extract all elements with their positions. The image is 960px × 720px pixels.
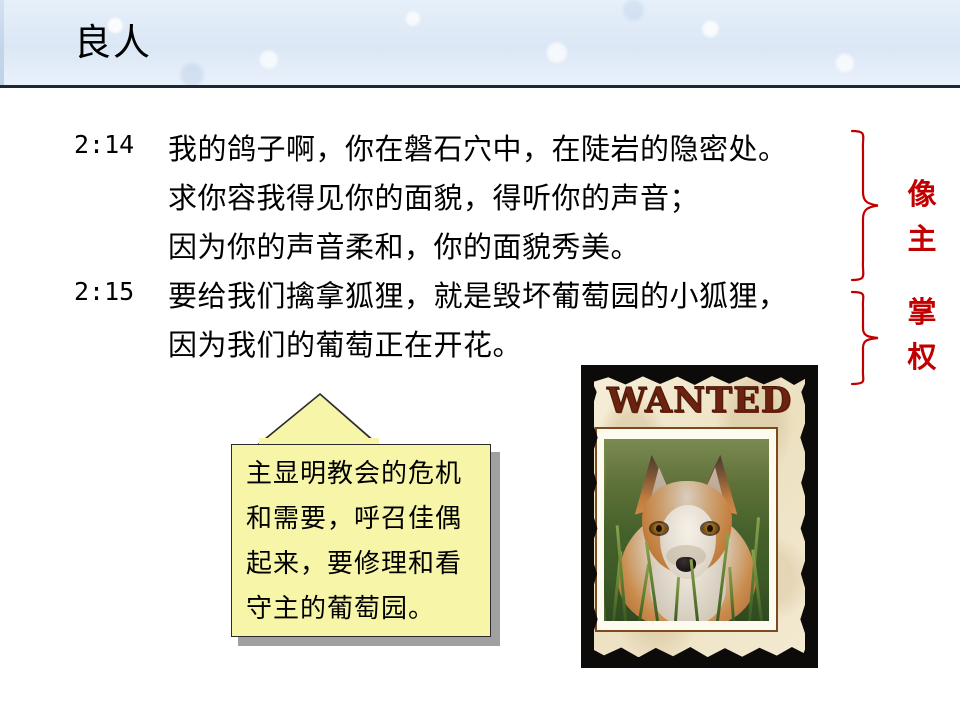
verse-line: 2:14 我的鸽子啊，你在磐石穴中，在陡岩的隐密处。 xyxy=(0,126,960,175)
verse-text: 我的鸽子啊，你在磐石穴中，在陡岩的隐密处。 xyxy=(168,126,788,172)
wanted-poster-image: WANTED ◄►◄●◄◆►●►◄► ◄►◄●◄◆►●►◄► ●◆●◆● ●◆●… xyxy=(581,365,818,668)
group-label-2-char-1: 掌 xyxy=(900,290,944,335)
verse-line: 求你容我得见你的面貌，得听你的声音； xyxy=(0,175,960,224)
verse-reference: 2:14 xyxy=(74,130,134,159)
verse-text: 求你容我得见你的面貌，得听你的声音； xyxy=(168,175,699,221)
fox-pupil-left xyxy=(656,525,662,532)
slide-title-bar: 良人 xyxy=(0,0,960,88)
verse-line: 2:15 要给我们擒拿狐狸，就是毁坏葡萄园的小狐狸， xyxy=(0,273,960,322)
group-label-1-char-1: 像 xyxy=(900,172,944,217)
group-brace-2 xyxy=(848,289,888,387)
callout-line: 起来，要修理和看 xyxy=(246,542,486,587)
verse-text: 因为我们的葡萄正在开花。 xyxy=(168,322,522,368)
fox-photo xyxy=(604,439,769,621)
verse-text: 要给我们擒拿狐狸，就是毁坏葡萄园的小狐狸， xyxy=(168,273,788,319)
group-brace-1 xyxy=(848,128,888,283)
group-label-2-char-2: 权 xyxy=(900,335,944,380)
verse-line: 因为你的声音柔和，你的面貌秀美。 xyxy=(0,224,960,273)
callout-line: 守主的葡萄园。 xyxy=(246,587,486,632)
callout-tail xyxy=(231,392,411,452)
scripture-body: 2:14 我的鸽子啊，你在磐石穴中，在陡岩的隐密处。 求你容我得见你的面貌，得听… xyxy=(0,126,960,371)
group-label-1-char-2: 主 xyxy=(900,217,944,262)
callout-text: 主显明教会的危机 和需要，呼召佳偶 起来，要修理和看 守主的葡萄园。 xyxy=(246,452,486,632)
verse-reference: 2:15 xyxy=(74,277,134,306)
page-title: 良人 xyxy=(74,18,152,68)
callout-line: 主显明教会的危机 xyxy=(246,452,486,497)
group-label-2: 掌 权 xyxy=(900,290,944,380)
verse-text: 因为你的声音柔和，你的面貌秀美。 xyxy=(168,224,640,270)
fox-pupil-right xyxy=(707,525,713,532)
callout-line: 和需要，呼召佳偶 xyxy=(246,497,486,542)
verse-block-215: 2:15 要给我们擒拿狐狸，就是毁坏葡萄园的小狐狸， 因为我们的葡萄正在开花。 xyxy=(0,273,960,371)
verse-line: 因为我们的葡萄正在开花。 xyxy=(0,322,960,371)
poster-title: WANTED xyxy=(581,383,818,419)
verse-block-214: 2:14 我的鸽子啊，你在磐石穴中，在陡岩的隐密处。 求你容我得见你的面貌，得听… xyxy=(0,126,960,273)
group-label-1: 像 主 xyxy=(900,172,944,262)
